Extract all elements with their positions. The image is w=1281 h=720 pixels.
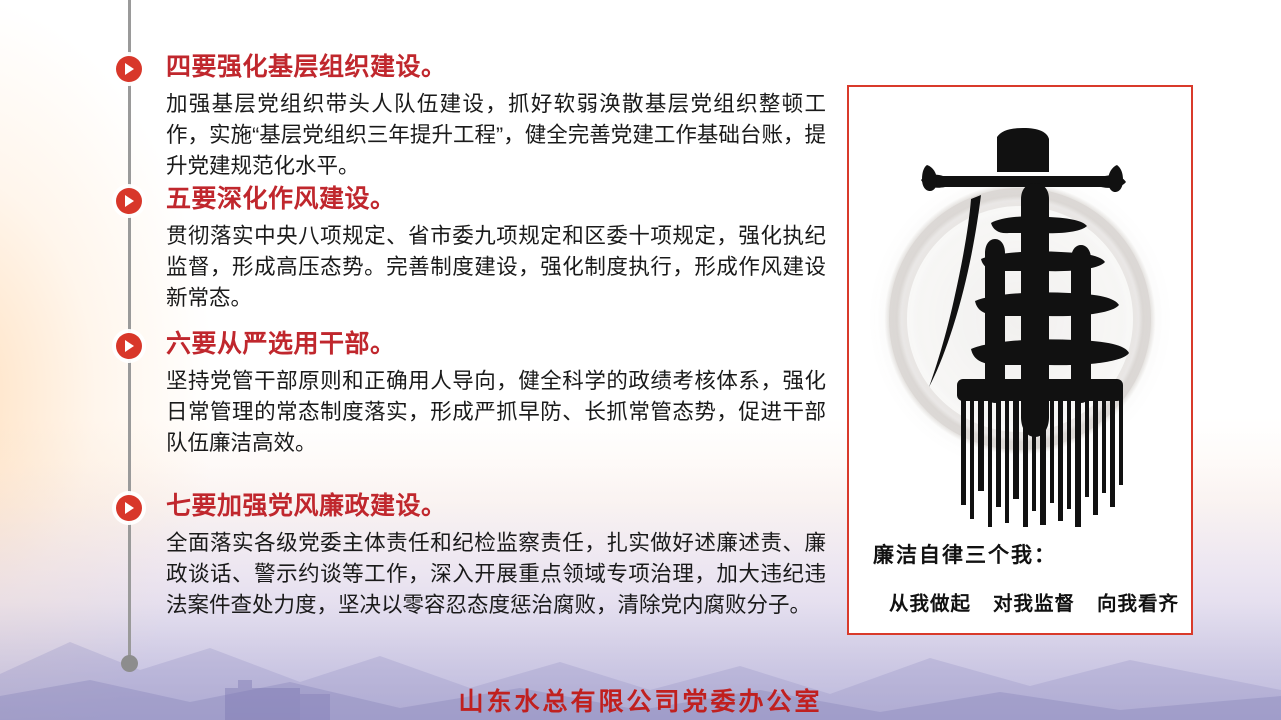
- bullet-marker-3: [116, 333, 142, 359]
- caption-item-1: 从我做起: [889, 587, 971, 616]
- section-2-body: 贯彻落实中央八项规定、省市委九项规定和区委十项规定，强化执纪监督，形成高压态势。…: [166, 221, 826, 315]
- section-3: 六要从严选用干部。 坚持党管干部原则和正确用人导向，健全科学的政绩考核体系，强化…: [166, 329, 826, 460]
- caption-item-3: 向我看齐: [1097, 587, 1179, 616]
- section-1-body: 加强基层党组织带头人队伍建设，抓好软弱涣散基层党组织整顿工作，实施“基层党组织三…: [166, 89, 826, 183]
- bullet-marker-1: [116, 56, 142, 82]
- section-1: 四要强化基层组织建设。 加强基层党组织带头人队伍建设，抓好软弱涣散基层党组织整顿…: [166, 52, 826, 183]
- artwork-caption-line1: 廉洁自律三个我：: [873, 539, 1057, 569]
- bullet-marker-4: [116, 495, 142, 521]
- section-1-heading: 四要强化基层组织建设。: [166, 52, 826, 82]
- section-4-body: 全面落实各级党委主体责任和纪检监察责任，扎实做好述廉述责、廉政谈话、警示约谈等工…: [166, 528, 826, 622]
- timeline-end-dot: [121, 655, 138, 672]
- lian-character-calligraphy: [849, 87, 1193, 527]
- calligraphy-artwork-card: 廉洁自律三个我： 从我做起 对我监督 向我看齐: [847, 85, 1193, 635]
- bullet-marker-2: [116, 188, 142, 214]
- section-2-heading: 五要深化作风建设。: [166, 184, 826, 214]
- artwork-caption-line2: 从我做起 对我监督 向我看齐: [889, 587, 1179, 616]
- section-3-heading: 六要从严选用干部。: [166, 329, 826, 359]
- section-3-body: 坚持党管干部原则和正确用人导向，健全科学的政绩考核体系，强化日常管理的常态制度落…: [166, 366, 826, 460]
- footer-organization: 山东水总有限公司党委办公室: [0, 682, 1281, 718]
- section-4-heading: 七要加强党风廉政建设。: [166, 491, 826, 521]
- caption-item-2: 对我监督: [993, 587, 1075, 616]
- section-2: 五要深化作风建设。 贯彻落实中央八项规定、省市委九项规定和区委十项规定，强化执纪…: [166, 184, 826, 315]
- section-4: 七要加强党风廉政建设。 全面落实各级党委主体责任和纪检监察责任，扎实做好述廉述责…: [166, 491, 826, 622]
- artwork-inner: 廉洁自律三个我： 从我做起 对我监督 向我看齐: [849, 87, 1191, 633]
- slide-canvas: 四要强化基层组织建设。 加强基层党组织带头人队伍建设，抓好软弱涣散基层党组织整顿…: [0, 0, 1281, 720]
